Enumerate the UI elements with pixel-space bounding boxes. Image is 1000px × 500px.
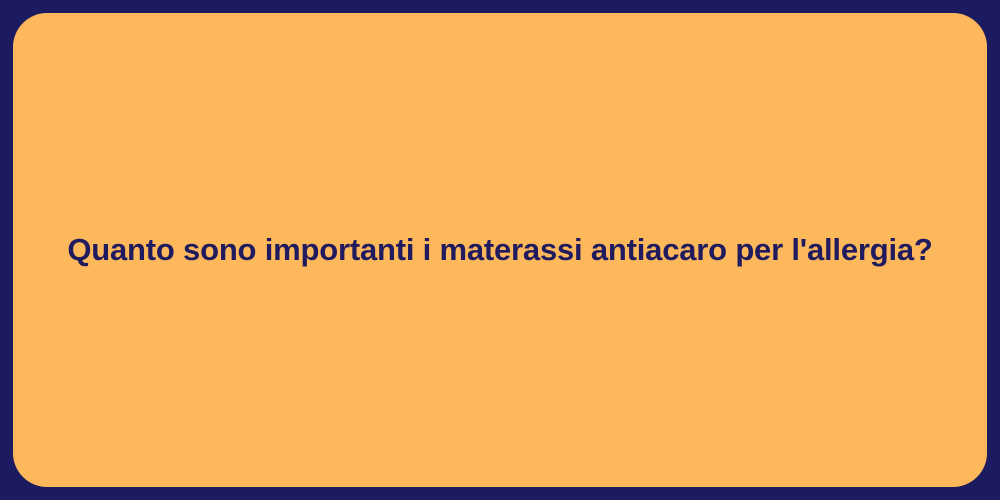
banner-content-panel: Quanto sono importanti i materassi antia…: [13, 13, 987, 487]
page-title: Quanto sono importanti i materassi antia…: [67, 231, 932, 268]
banner-card: Quanto sono importanti i materassi antia…: [0, 0, 1000, 500]
